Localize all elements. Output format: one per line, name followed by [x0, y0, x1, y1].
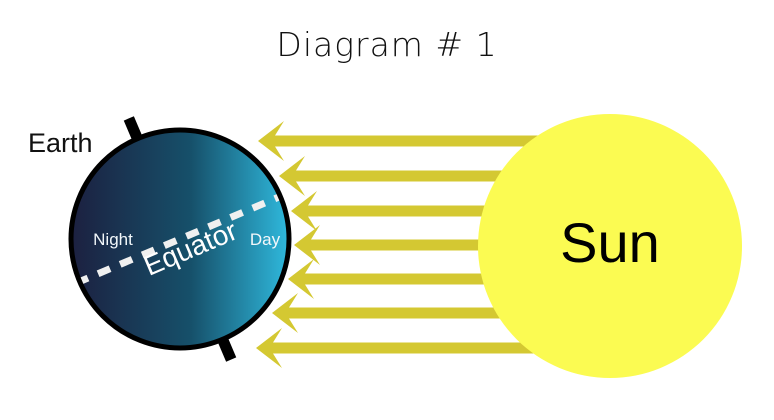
night-label: Night [93, 230, 133, 249]
diagram-svg: Diagram # 1 Equator Night Day Earth Sun [0, 0, 774, 420]
sun-group: Sun [478, 114, 742, 378]
sun-label: Sun [560, 211, 660, 274]
diagram-canvas: Diagram # 1 Equator Night Day Earth Sun [0, 0, 774, 420]
sun-ray-arrow [256, 328, 540, 368]
page-title: Diagram # 1 [276, 25, 497, 64]
day-label: Day [250, 230, 281, 249]
earth-label: Earth [28, 128, 93, 158]
earth-group: Equator Night Day [71, 130, 289, 348]
sun-ray-arrow [258, 121, 540, 161]
